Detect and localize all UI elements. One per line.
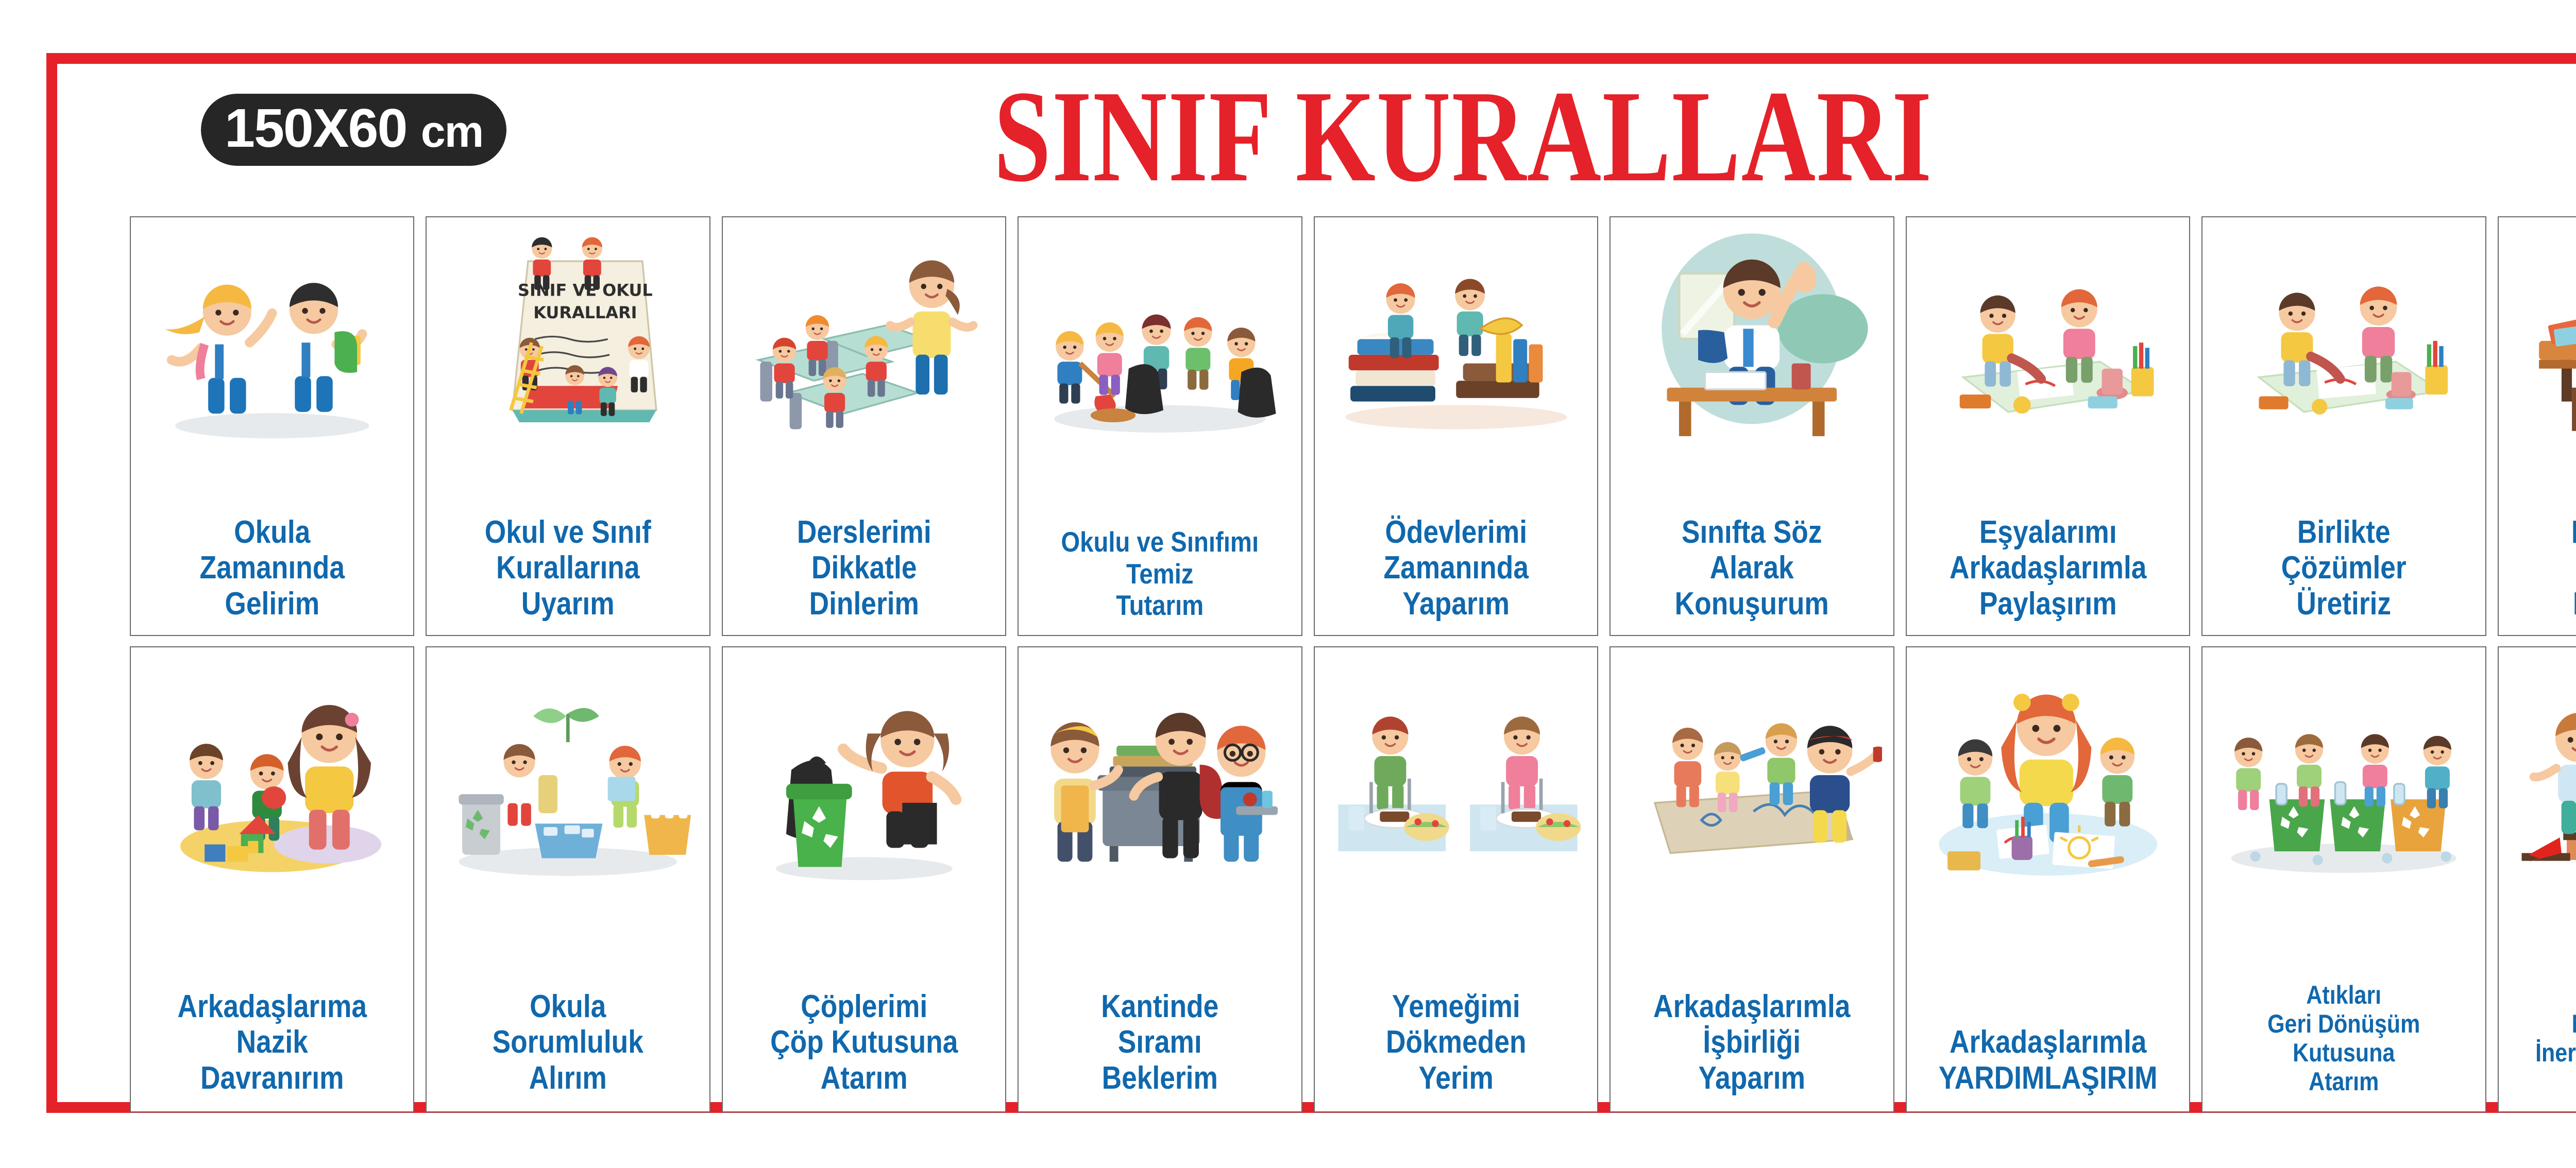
rule-card[interactable]: Okula Zamanında Gelirim	[130, 216, 414, 636]
rule-card-label: Kantinde Sıramı Beklerim	[1043, 989, 1277, 1096]
page-title: SINIF KURALLARI	[944, 72, 1982, 201]
rule-card-label: Atıkları Geri Dönüşüm Kutusuna Atarım	[2227, 981, 2461, 1096]
two-students-walking-to-school-icon	[131, 217, 413, 447]
rule-card[interactable]: SINIF VE OKUL KURALLARI	[426, 216, 710, 636]
boy-writing-at-desk-icon	[2499, 217, 2576, 447]
rule-card-label: Derslerimi Dikkatle Dinlerim	[748, 514, 981, 622]
rule-card-label: Birlikte Çözümler Üretiriz	[2227, 514, 2461, 622]
rule-card[interactable]: Atıkları Geri Dönüşüm Kutusuna Atarım	[2201, 646, 2486, 1112]
rule-card[interactable]: Okulu ve Sınıfımı Temiz Tutarım	[1018, 216, 1302, 636]
two-children-solving-together-icon	[2202, 217, 2485, 447]
size-badge-unit: cm	[421, 107, 483, 157]
teacher-with-students-at-desks-icon	[723, 217, 1005, 447]
rule-card-label: Okula Sorumluluk Alırım	[451, 989, 685, 1096]
rule-card[interactable]: Arkadaşlarımla YARDIMLAŞIRIM	[1906, 646, 2190, 1112]
children-eating-meal-icon	[1315, 647, 1597, 903]
rule-card-label: Ödevlerimi Zamanında Yaparım	[1340, 514, 1573, 622]
rule-card[interactable]: Derslerimi Dikkatle Dinlerim	[722, 216, 1006, 636]
rule-card[interactable]: Çöplerimi Çöp Kutusuna Atarım	[722, 646, 1006, 1112]
rule-card-label: Merdivenden İnerken ve Çıkarken Koşmam	[2523, 1009, 2576, 1096]
rule-card[interactable]: Eşyalarımı Arkadaşlarımla Paylaşırım	[1906, 216, 2190, 636]
size-badge: 150X60 cm	[201, 94, 506, 166]
size-badge-value: 150X60	[225, 98, 406, 159]
rule-card-label: Eşyalarımı Arkadaşlarımla Paylaşırım	[1931, 514, 2164, 622]
children-helping-each-other-drawing-icon	[1907, 647, 2189, 903]
rule-card-label: Arkadaşlarıma Nazik Davranırım	[156, 989, 389, 1096]
rules-grid: Okula Zamanında Gelirim SINIF VE OKUL KU…	[130, 216, 2576, 1112]
svg-text:KURALLARI: KURALLARI	[534, 303, 637, 322]
children-at-recycling-bins-icon	[2202, 647, 2485, 903]
rule-card-label: Yemeğimi Dökmeden Yerim	[1340, 989, 1573, 1096]
rule-card-label: Arkadaşlarımla YARDIMLAŞIRIM	[1931, 1024, 2164, 1096]
rule-card[interactable]: Okula Sorumluluk Alırım	[426, 646, 710, 1112]
rule-card[interactable]: Ödevlerimi Zamanında Yaparım	[1314, 216, 1598, 636]
rule-card-label: Arkadaşlarımla İşbirliği Yaparım	[1635, 989, 1869, 1096]
children-sorting-recycling-icon	[427, 647, 709, 903]
classroom-rules-poster: 150X60 cm SINIF KURALLARI Okula Zamanınd…	[0, 0, 2576, 1168]
rule-card-label: Eşyalarımı Özenli Kullanırım	[2523, 514, 2576, 622]
children-drawing-on-paper-roll-icon	[1611, 647, 1893, 903]
rule-card[interactable]: Kantinde Sıramı Beklerim	[1018, 646, 1302, 1112]
rule-card[interactable]: Yemeğimi Dökmeden Yerim	[1314, 646, 1598, 1112]
rule-card-label: Okula Zamanında Gelirim	[156, 514, 389, 622]
rule-card[interactable]: Arkadaşlarımla İşbirliği Yaparım	[1609, 646, 1894, 1112]
children-studying-with-books-icon	[1315, 217, 1597, 447]
rule-card[interactable]: Eşyalarımı Özenli Kullanırım	[2498, 216, 2576, 636]
rule-card-label: Çöplerimi Çöp Kutusuna Atarım	[748, 989, 981, 1096]
boy-raising-hand-at-desk-icon	[1611, 217, 1893, 447]
children-on-stairs-icon	[2499, 647, 2576, 903]
two-children-sharing-crayons-icon	[1907, 217, 2189, 447]
classroom-rules-poster-icon: SINIF VE OKUL KURALLARI	[427, 217, 709, 447]
cafeteria-queue-icon	[1019, 647, 1301, 903]
children-playing-with-blocks-icon	[131, 647, 413, 903]
rule-card-label: Okulu ve Sınıfımı Temiz Tutarım	[1043, 526, 1277, 622]
girl-throwing-trash-bag-in-bin-icon	[723, 647, 1005, 903]
children-cleaning-with-trash-bags-icon	[1019, 217, 1301, 447]
rule-card[interactable]: Sınıfta Söz Alarak Konuşurum	[1609, 216, 1894, 636]
rule-card-label: Okul ve Sınıf Kurallarına Uyarım	[451, 514, 685, 622]
rule-card-label: Sınıfta Söz Alarak Konuşurum	[1635, 514, 1869, 622]
rule-card[interactable]: Merdivenden İnerken ve Çıkarken Koşmam	[2498, 646, 2576, 1112]
rule-card[interactable]: Arkadaşlarıma Nazik Davranırım	[130, 646, 414, 1112]
rule-card[interactable]: Birlikte Çözümler Üretiriz	[2201, 216, 2486, 636]
